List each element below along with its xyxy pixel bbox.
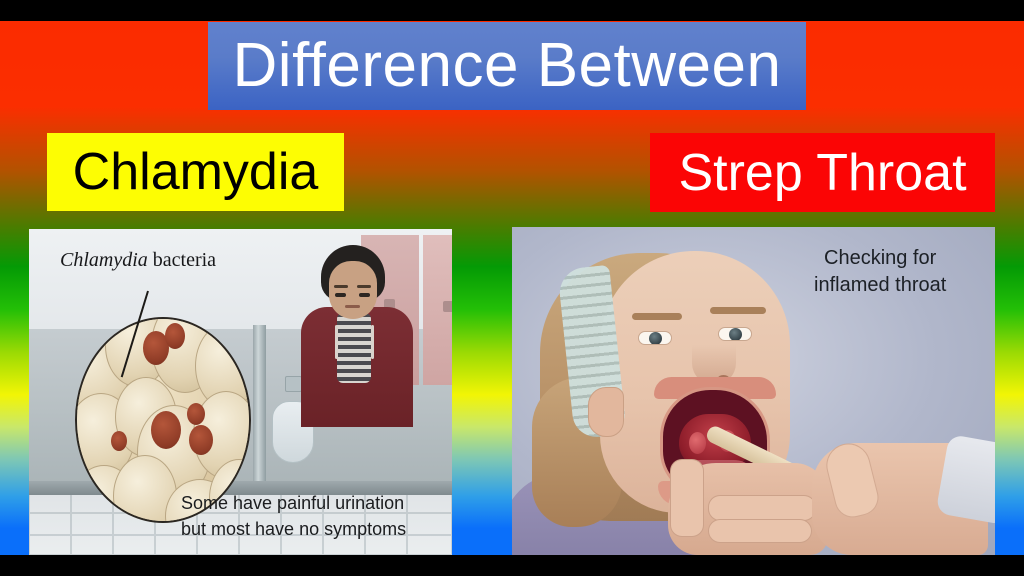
patient-eye	[638, 331, 672, 345]
letterbox-bar-bottom	[0, 555, 1024, 576]
person-mouth	[345, 305, 360, 308]
wall-tile	[29, 535, 71, 555]
patient-eye	[718, 327, 752, 341]
hoodie-drawstring	[371, 325, 374, 359]
patient-eyebrow	[632, 313, 682, 320]
clinician-finger	[708, 495, 816, 521]
patient-iris	[649, 332, 662, 345]
wall-tile	[71, 535, 113, 555]
title-banner: Difference Between	[208, 22, 806, 110]
left-caption-line-1: Some have painful urination	[181, 490, 406, 516]
left-topic-label-text: Chlamydia	[73, 146, 319, 198]
bacterial-inclusion	[187, 403, 205, 425]
left-caption-line-2: but most have no symptoms	[181, 516, 406, 542]
right-illustration-panel: Checking for inflamed throat	[512, 227, 995, 555]
wall-tile	[407, 513, 452, 535]
bacteria-annotation-italic: Chlamydia	[60, 249, 148, 271]
wall-tile	[29, 513, 71, 535]
person-eye	[359, 293, 370, 297]
left-image-caption: Some have painful urination but most hav…	[181, 490, 406, 542]
right-image-caption: Checking for inflamed throat	[814, 245, 946, 299]
clinician-finger	[670, 459, 704, 537]
bacteria-annotation: Chlamydia bacteria	[60, 249, 216, 272]
right-caption-line-2: inflamed throat	[814, 272, 946, 299]
bacterial-inclusion	[189, 425, 213, 455]
person-face	[329, 261, 377, 319]
person-eyebrow	[357, 285, 371, 288]
bacterial-inclusion	[111, 431, 127, 451]
bacterial-inclusion	[165, 323, 185, 349]
person-eyebrow	[334, 285, 348, 288]
right-topic-label-text: Strep Throat	[678, 147, 966, 199]
patient-iris	[729, 328, 742, 341]
patient-eyebrow	[710, 307, 766, 314]
wall-tile	[113, 535, 155, 555]
flush-valve	[285, 376, 302, 392]
hoodie-drawstring	[335, 325, 338, 359]
patient-ear	[588, 387, 624, 437]
right-caption-line-1: Checking for	[814, 245, 946, 272]
page-title: Difference Between	[233, 35, 782, 97]
slide-canvas: Difference Between Chlamydia Strep Throa…	[0, 0, 1024, 576]
person-eye	[335, 293, 346, 297]
bacteria-annotation-rest: bacteria	[148, 249, 216, 271]
left-illustration-panel: Chlamydia bacteria Some have painful uri…	[29, 229, 452, 555]
stall-divider	[253, 325, 266, 495]
left-topic-label: Chlamydia	[47, 133, 344, 211]
letterbox-bar-top	[0, 0, 1024, 21]
bacterial-inclusion	[151, 411, 181, 449]
wall-tile	[407, 535, 452, 555]
right-topic-label: Strep Throat	[650, 133, 995, 212]
inflamed-tonsil	[689, 432, 706, 454]
person-striped-shirt	[337, 313, 371, 383]
clinician-finger	[708, 519, 812, 543]
coat-hook	[443, 301, 452, 312]
